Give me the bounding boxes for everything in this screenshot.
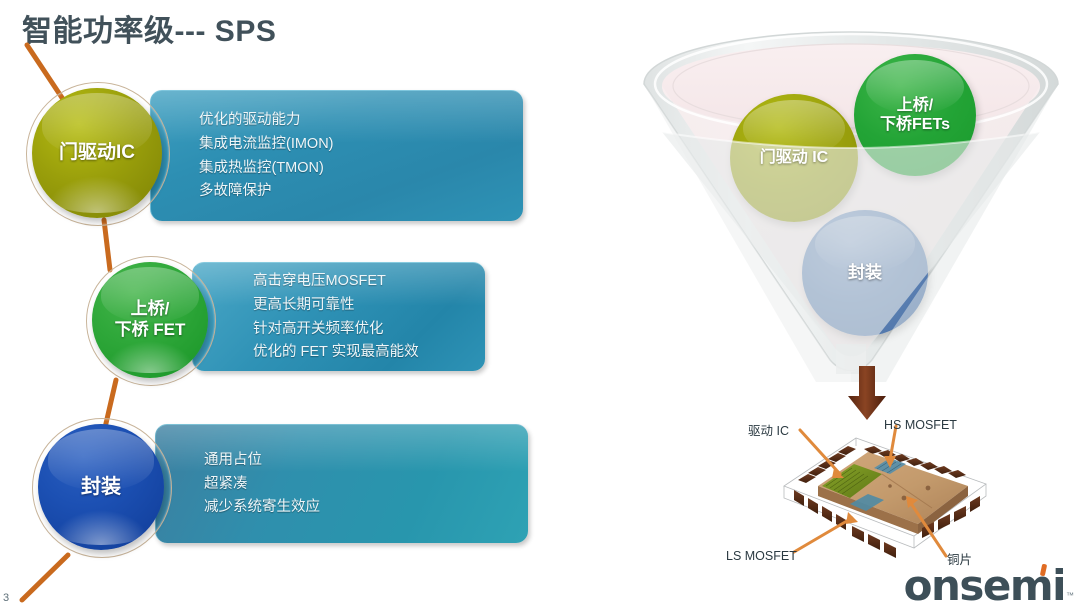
- logo-trademark: ™: [1066, 591, 1074, 600]
- bullet-item: 更高长期可靠性: [253, 297, 475, 314]
- funnel-orb-label: 封装: [848, 263, 882, 283]
- orb-gate-driver[interactable]: 门驱动IC: [32, 88, 162, 218]
- feature-banner-gate-driver: 优化的驱动能力 集成电流监控(IMON) 集成热监控(TMON) 多故障保护: [150, 90, 523, 221]
- orb-fet[interactable]: 上桥/ 下桥 FET: [92, 262, 208, 378]
- banner-bullets: 优化的驱动能力 集成电流监控(IMON) 集成热监控(TMON) 多故障保护: [199, 91, 513, 221]
- orb-label: 封装: [81, 475, 121, 499]
- callout-ls-mosfet: LS MOSFET: [726, 549, 797, 563]
- funnel-orb-gate-driver[interactable]: 门驱动 IC: [730, 94, 858, 222]
- funnel-orb-label: 上桥/ 下桥FETs: [880, 96, 950, 134]
- banner-bullets: 通用占位 超紧凑 减少系统寄生效应: [204, 425, 518, 543]
- bullet-item: 多故障保护: [199, 183, 513, 200]
- bullet-item: 通用占位: [204, 452, 518, 469]
- bullet-item: 优化的 FET 实现最高能效: [253, 344, 475, 361]
- feature-banner-package: 通用占位 超紧凑 减少系统寄生效应: [155, 424, 528, 543]
- funnel-orb-label: 门驱动 IC: [760, 148, 828, 167]
- banner-bullets: 高击穿电压MOSFET 更高长期可靠性 针对高开关频率优化 优化的 FET 实现…: [253, 263, 475, 371]
- funnel-diagram: 门驱动 IC 上桥/ 下桥FETs 封装: [636, 22, 1066, 382]
- orb-package[interactable]: 封装: [38, 424, 164, 550]
- bullet-item: 减少系统寄生效应: [204, 499, 518, 516]
- callout-hs-mosfet: HS MOSFET: [884, 418, 957, 432]
- bullet-item: 优化的驱动能力: [199, 112, 513, 129]
- feature-banner-fet: 高击穿电压MOSFET 更高长期可靠性 针对高开关频率优化 优化的 FET 实现…: [192, 262, 485, 371]
- down-arrow-icon: [846, 366, 888, 422]
- bullet-item: 针对高开关频率优化: [253, 321, 475, 338]
- slide-canvas: 智能功率级--- SPS 3 优化的驱动能力 集成电流监控(IMON) 集成热监…: [0, 0, 1080, 606]
- onsemi-logo: onsemi ™: [904, 566, 1074, 606]
- orb-label: 门驱动IC: [59, 141, 135, 164]
- funnel-orb-package[interactable]: 封装: [802, 210, 928, 336]
- callout-driver-ic: 驱动 IC: [748, 420, 789, 439]
- bullet-item: 超紧凑: [204, 476, 518, 493]
- bullet-item: 集成电流监控(IMON): [199, 136, 513, 153]
- orb-label: 上桥/ 下桥 FET: [115, 299, 186, 340]
- bullet-item: 高击穿电压MOSFET: [253, 273, 475, 290]
- bullet-item: 集成热监控(TMON): [199, 160, 513, 177]
- funnel-orb-fets[interactable]: 上桥/ 下桥FETs: [854, 54, 976, 176]
